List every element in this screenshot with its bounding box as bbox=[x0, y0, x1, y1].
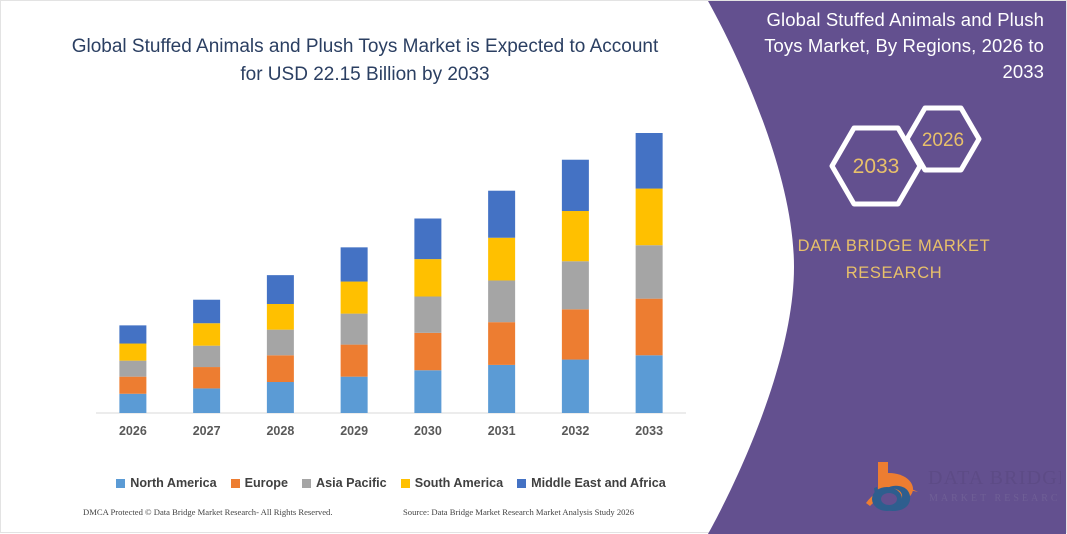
bar-segment-europe-2031 bbox=[488, 322, 515, 365]
bar-2030 bbox=[414, 219, 441, 414]
bar-segment-south-america-2033 bbox=[636, 189, 663, 246]
bar-segment-europe-2027 bbox=[193, 367, 220, 388]
bar-segment-middle-east-and-africa-2032 bbox=[562, 160, 589, 211]
bar-segment-south-america-2027 bbox=[193, 323, 220, 345]
bar-segment-north-america-2030 bbox=[414, 370, 441, 413]
x-tick-2029: 2029 bbox=[324, 424, 384, 438]
bar-segment-middle-east-and-africa-2027 bbox=[193, 300, 220, 324]
x-tick-2033: 2033 bbox=[619, 424, 679, 438]
bar-segment-north-america-2026 bbox=[119, 394, 146, 413]
legend-label: North America bbox=[130, 476, 216, 490]
x-tick-2032: 2032 bbox=[545, 424, 605, 438]
brand-line-1: DATA BRIDGE MARKET bbox=[754, 233, 1034, 260]
bar-segment-europe-2026 bbox=[119, 377, 146, 394]
bar-segment-asia-pacific-2029 bbox=[341, 314, 368, 345]
bar-segment-europe-2030 bbox=[414, 333, 441, 370]
hexagon-2033-label: 2033 bbox=[853, 155, 900, 178]
bar-segment-south-america-2032 bbox=[562, 211, 589, 261]
legend-item-south-america[interactable]: South America bbox=[401, 476, 503, 490]
legend-label: Middle East and Africa bbox=[531, 476, 666, 490]
bar-segment-asia-pacific-2026 bbox=[119, 361, 146, 377]
bar-2027 bbox=[193, 300, 220, 413]
legend-swatch-icon bbox=[302, 479, 311, 488]
brand-line-2: RESEARCH bbox=[754, 260, 1034, 287]
bar-segment-south-america-2028 bbox=[267, 304, 294, 330]
bar-segment-europe-2029 bbox=[341, 345, 368, 377]
data-bridge-logo: DATA BRIDGE MARKET RESEARCH bbox=[856, 456, 1061, 518]
legend-item-asia-pacific[interactable]: Asia Pacific bbox=[302, 476, 387, 490]
bar-segment-middle-east-and-africa-2026 bbox=[119, 325, 146, 343]
hexagon-badges: 2033 2026 bbox=[814, 97, 1014, 227]
legend-label: Europe bbox=[245, 476, 288, 490]
infographic-canvas: Global Stuffed Animals and Plush Toys Ma… bbox=[0, 0, 1067, 533]
footer-copyright: DMCA Protected © Data Bridge Market Rese… bbox=[83, 507, 333, 517]
bar-segment-south-america-2031 bbox=[488, 238, 515, 281]
x-tick-2030: 2030 bbox=[398, 424, 458, 438]
chart-legend: North AmericaEuropeAsia PacificSouth Ame… bbox=[96, 473, 686, 493]
brand-wordmark: DATA BRIDGE MARKET RESEARCH bbox=[754, 233, 1034, 287]
x-tick-2028: 2028 bbox=[250, 424, 310, 438]
legend-item-europe[interactable]: Europe bbox=[231, 476, 288, 490]
stacked-bar-chart bbox=[96, 121, 686, 416]
bar-segment-north-america-2033 bbox=[636, 355, 663, 413]
bar-segment-europe-2032 bbox=[562, 309, 589, 359]
bar-2033 bbox=[636, 133, 663, 413]
logo-d-glyph bbox=[872, 486, 910, 511]
bar-2029 bbox=[341, 247, 368, 413]
legend-swatch-icon bbox=[116, 479, 125, 488]
logo-title: DATA BRIDGE bbox=[928, 467, 1061, 489]
bar-segment-north-america-2029 bbox=[341, 377, 368, 413]
logo-subtitle: MARKET RESEARCH bbox=[929, 493, 1061, 504]
bar-segment-asia-pacific-2031 bbox=[488, 280, 515, 322]
legend-swatch-icon bbox=[401, 479, 410, 488]
x-axis-tick-labels: 20262027202820292030203120322033 bbox=[96, 424, 686, 444]
legend-swatch-icon bbox=[517, 479, 526, 488]
bar-segment-asia-pacific-2033 bbox=[636, 245, 663, 298]
bar-segment-middle-east-and-africa-2029 bbox=[341, 247, 368, 281]
bar-2028 bbox=[267, 275, 294, 413]
bar-segment-north-america-2027 bbox=[193, 388, 220, 413]
hexagons-svg: 2033 2026 bbox=[814, 97, 1014, 227]
legend-label: South America bbox=[415, 476, 503, 490]
bar-2031 bbox=[488, 191, 515, 413]
bar-segment-south-america-2026 bbox=[119, 344, 146, 361]
bar-segment-middle-east-and-africa-2033 bbox=[636, 133, 663, 189]
bar-segment-middle-east-and-africa-2028 bbox=[267, 275, 294, 304]
bar-segment-asia-pacific-2027 bbox=[193, 346, 220, 367]
hexagon-2026-label: 2026 bbox=[922, 130, 964, 151]
bar-segment-north-america-2028 bbox=[267, 382, 294, 413]
panel-content: Global Stuffed Animals and Plush Toys Ma… bbox=[726, 1, 1066, 534]
bar-segment-europe-2033 bbox=[636, 299, 663, 356]
x-tick-2027: 2027 bbox=[177, 424, 237, 438]
bar-segment-asia-pacific-2030 bbox=[414, 297, 441, 333]
bar-segment-north-america-2032 bbox=[562, 360, 589, 413]
bar-2026 bbox=[119, 325, 146, 413]
chart-svg bbox=[96, 121, 686, 416]
panel-title: Global Stuffed Animals and Plush Toys Ma… bbox=[754, 7, 1044, 85]
bar-segment-middle-east-and-africa-2031 bbox=[488, 191, 515, 238]
chart-title: Global Stuffed Animals and Plush Toys Ma… bbox=[63, 33, 667, 89]
bar-segment-europe-2028 bbox=[267, 355, 294, 382]
bar-segment-south-america-2030 bbox=[414, 259, 441, 296]
bar-segment-north-america-2031 bbox=[488, 365, 515, 413]
legend-item-middle-east-and-africa[interactable]: Middle East and Africa bbox=[517, 476, 666, 490]
footer: DMCA Protected © Data Bridge Market Rese… bbox=[83, 507, 683, 523]
x-tick-2026: 2026 bbox=[103, 424, 163, 438]
logo-svg: DATA BRIDGE MARKET RESEARCH bbox=[856, 456, 1061, 518]
bar-segment-south-america-2029 bbox=[341, 282, 368, 314]
bar-segment-asia-pacific-2028 bbox=[267, 330, 294, 356]
bar-segment-asia-pacific-2032 bbox=[562, 261, 589, 309]
bar-segment-middle-east-and-africa-2030 bbox=[414, 219, 441, 260]
x-tick-2031: 2031 bbox=[472, 424, 532, 438]
legend-swatch-icon bbox=[231, 479, 240, 488]
legend-item-north-america[interactable]: North America bbox=[116, 476, 216, 490]
legend-label: Asia Pacific bbox=[316, 476, 387, 490]
footer-source: Source: Data Bridge Market Research Mark… bbox=[403, 507, 634, 517]
bar-2032 bbox=[562, 160, 589, 413]
